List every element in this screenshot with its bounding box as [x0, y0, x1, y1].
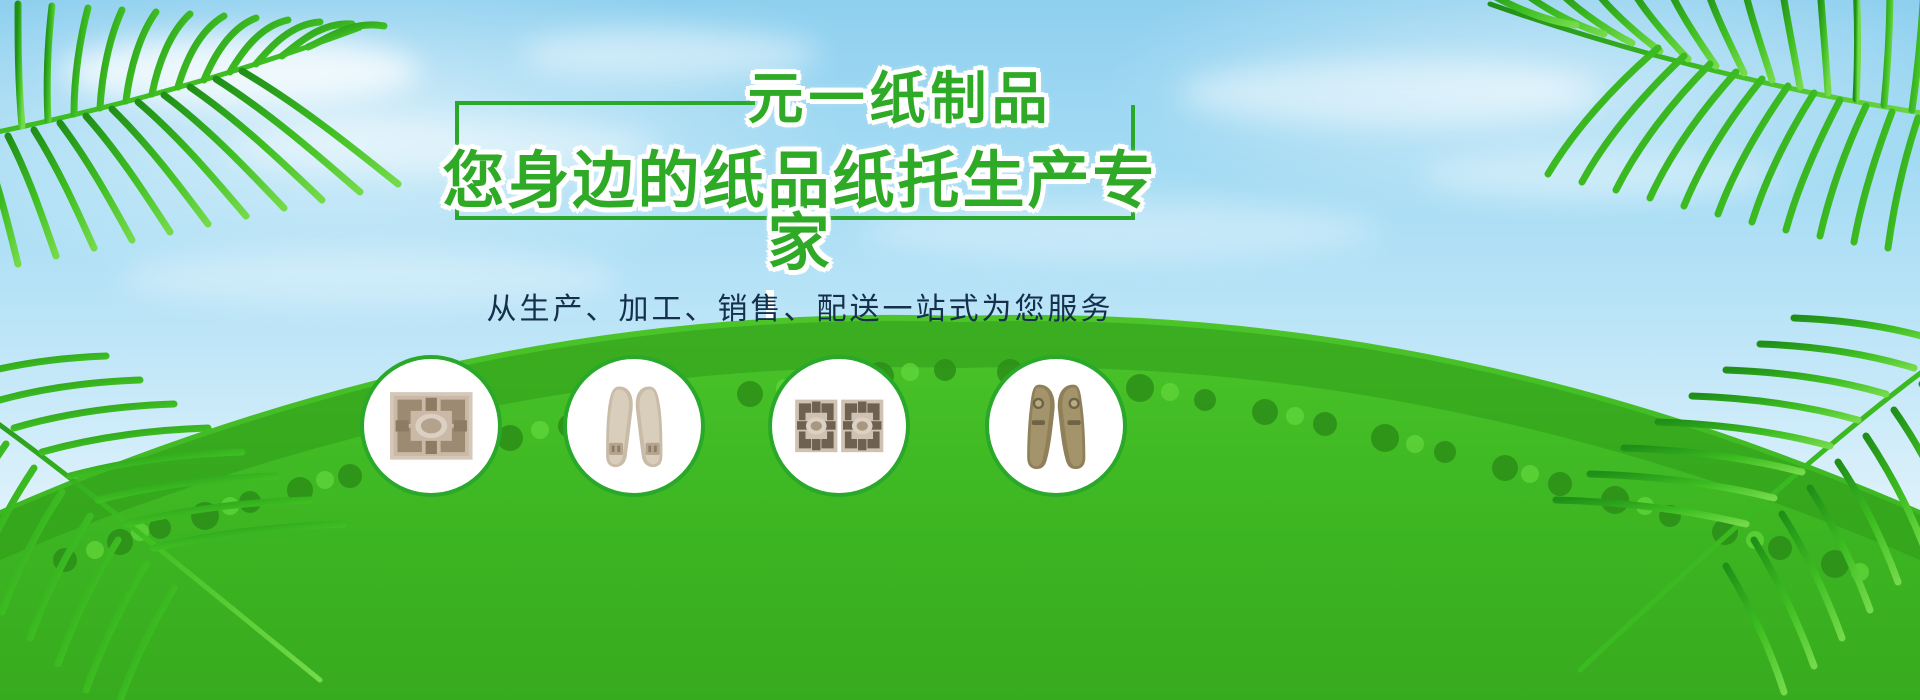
product-circle-paper-pulp-shoe-insert-pair[interactable]	[563, 355, 705, 497]
paper-pulp-square-tray-image	[379, 379, 484, 473]
paper-pulp-shoe-tree-pair-image	[1004, 379, 1109, 473]
product-circle-paper-pulp-square-tray[interactable]	[360, 355, 502, 497]
promo-banner: 元一纸制品 您身边的纸品纸托生产专家 从生产、加工、销售、配送一站式为您服务	[0, 0, 1920, 700]
paper-pulp-shoe-insert-pair-image	[582, 379, 687, 473]
product-circle-list	[0, 0, 1920, 700]
product-circle-paper-pulp-double-tray[interactable]	[768, 355, 910, 497]
product-circle-paper-pulp-shoe-tree-pair[interactable]	[985, 355, 1127, 497]
paper-pulp-double-tray-image	[787, 379, 892, 473]
